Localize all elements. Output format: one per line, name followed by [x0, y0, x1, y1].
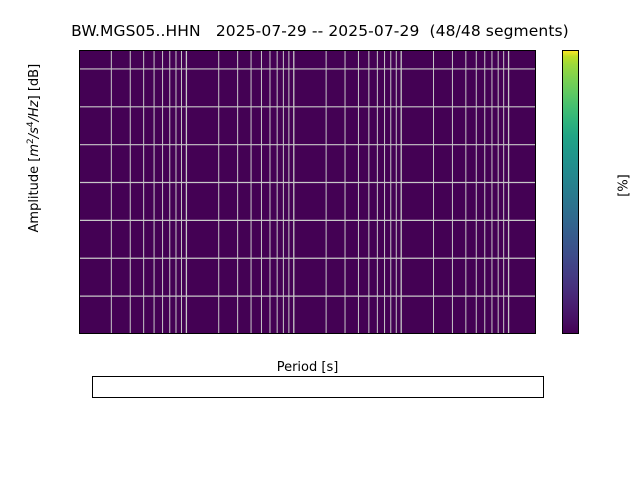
x-axis-label: Period [s] — [79, 360, 536, 375]
colorbar-label: [%] — [617, 166, 632, 206]
noise-model-curves — [79, 50, 536, 334]
ppsd-figure: BW.MGS05..HHN 2025-07-29 -- 2025-07-29 (… — [0, 0, 640, 480]
page-title: BW.MGS05..HHN 2025-07-29 -- 2025-07-29 (… — [0, 22, 640, 40]
coverage-tick-marks — [92, 398, 544, 403]
colorbar[interactable] — [562, 50, 579, 334]
ppsd-plot-area[interactable] — [79, 50, 536, 334]
y-axis-label: Amplitude [m2/s4/Hz] [dB] — [26, 18, 42, 278]
data-coverage-bar[interactable] — [92, 376, 544, 398]
